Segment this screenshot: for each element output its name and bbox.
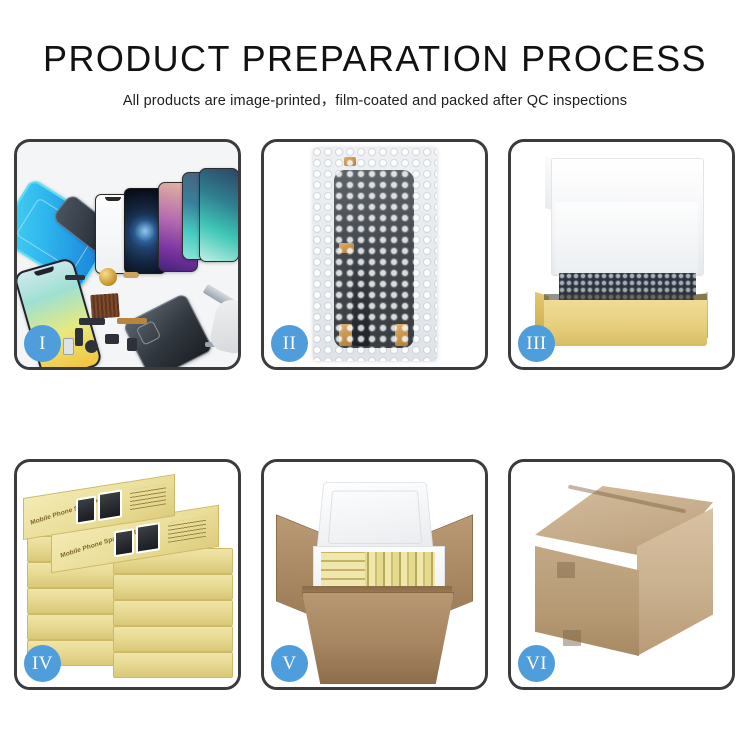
step-badge-6: VI bbox=[518, 645, 555, 682]
bubble-wrap-overlay bbox=[313, 148, 437, 361]
spare-part-connector bbox=[123, 272, 139, 278]
page-subtitle: All products are image-printed，film-coat… bbox=[0, 89, 750, 110]
carton-body bbox=[302, 592, 454, 684]
logic-board-chip bbox=[90, 293, 120, 319]
stacked-box-right-2 bbox=[113, 574, 233, 600]
box-print-phone-front-b bbox=[136, 522, 160, 554]
page-header: PRODUCT PREPARATION PROCESS All products… bbox=[0, 0, 750, 110]
stacked-box-right-5 bbox=[113, 652, 233, 678]
box-print-phone-front-a bbox=[114, 528, 134, 557]
spare-part-vibrator bbox=[127, 338, 137, 351]
process-step-card-5[interactable]: V bbox=[261, 459, 488, 690]
gold-speaker-part bbox=[99, 268, 117, 286]
spare-part-flex-c bbox=[117, 318, 147, 324]
process-step-card-2[interactable]: II bbox=[261, 139, 488, 370]
step-badge-3: III bbox=[518, 325, 555, 362]
step-badge-4: IV bbox=[24, 645, 61, 682]
white-foam-sheet bbox=[555, 202, 698, 274]
foam-cooler-lid bbox=[316, 482, 434, 555]
carton-flap-tab-lower bbox=[563, 630, 581, 646]
process-step-card-6[interactable]: VI bbox=[508, 459, 735, 690]
phone-back-housing bbox=[122, 293, 213, 367]
page-title: PRODUCT PREPARATION PROCESS bbox=[0, 40, 750, 78]
box-print-text-front bbox=[168, 517, 206, 543]
spare-part-flex-a bbox=[79, 318, 105, 325]
step-badge-2: II bbox=[271, 325, 308, 362]
box-print-phone-back-b bbox=[98, 489, 122, 521]
stacked-box-left-3 bbox=[27, 588, 117, 614]
process-step-card-1[interactable]: I bbox=[14, 139, 241, 370]
carton-front-face bbox=[535, 546, 639, 656]
spare-part-sim-tray bbox=[63, 338, 74, 355]
process-step-card-4[interactable]: Mobile Phone Spare Parts Mobile Phone Sp… bbox=[14, 459, 241, 690]
step-badge-1: I bbox=[24, 325, 61, 362]
kraft-box-base bbox=[544, 300, 707, 346]
stacked-box-right-4 bbox=[113, 626, 233, 652]
spare-part-strip bbox=[65, 275, 85, 280]
box-print-phone-back-a bbox=[76, 495, 96, 524]
stacked-box-right-3 bbox=[113, 600, 233, 626]
spare-part-button bbox=[85, 340, 98, 353]
box-print-text-back bbox=[130, 484, 166, 510]
carton-flap-tab-upper bbox=[557, 562, 575, 578]
step-badge-5: V bbox=[271, 645, 308, 682]
teal-phone-front bbox=[199, 168, 238, 262]
spare-part-flex-b bbox=[75, 328, 83, 346]
bubble-wrap-sleeve bbox=[313, 148, 437, 361]
process-step-grid: I II III bbox=[14, 139, 736, 690]
process-step-card-3[interactable]: III bbox=[508, 139, 735, 370]
spare-part-camera bbox=[105, 334, 119, 344]
stacked-box-left-4 bbox=[27, 614, 117, 640]
